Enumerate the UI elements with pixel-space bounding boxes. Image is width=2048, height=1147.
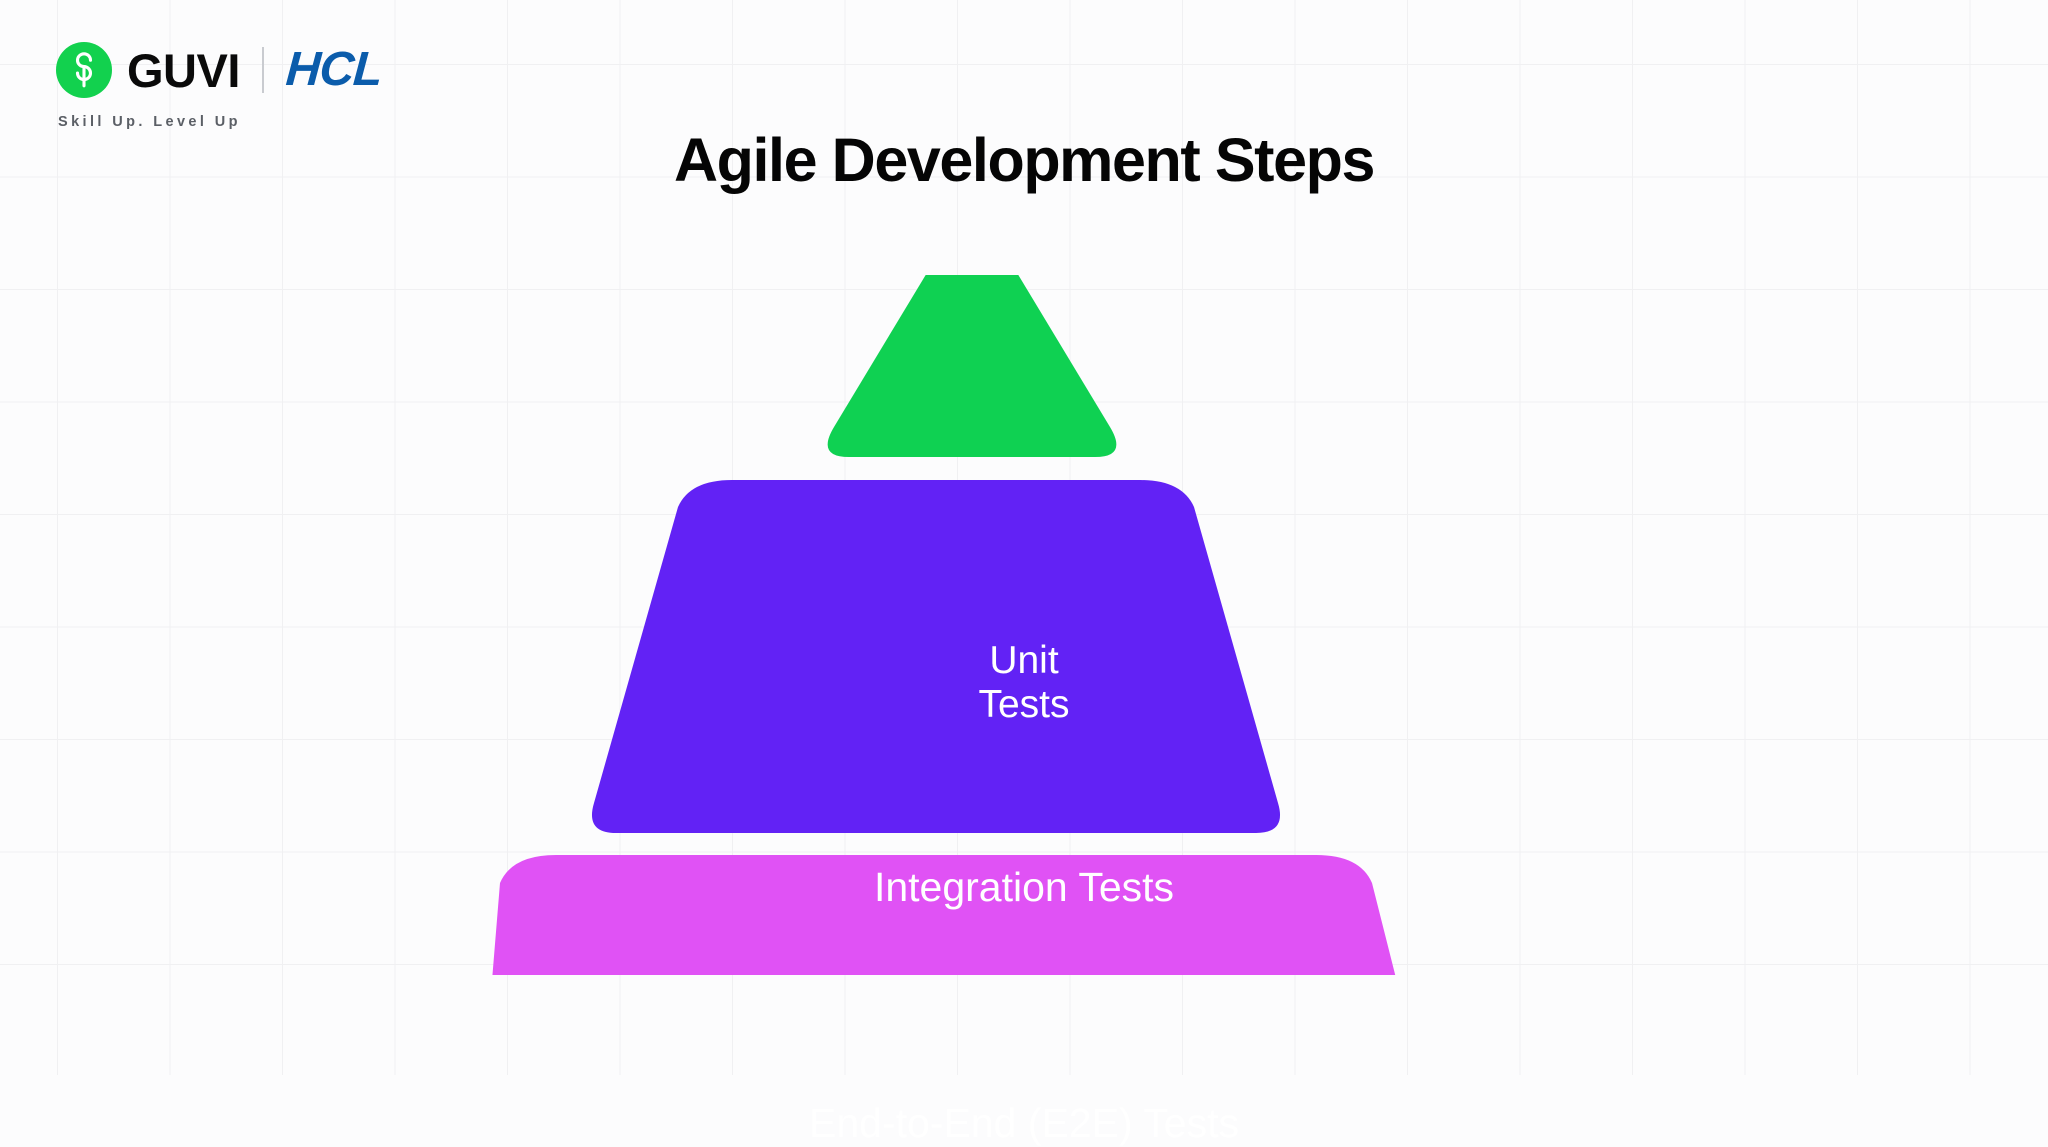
e2e-layer-shape[interactable]: [472, 855, 1453, 975]
test-pyramid-diagram: Unit Tests Integration Tests End-to-End …: [0, 275, 2048, 975]
guvi-logo-mark: [56, 42, 112, 98]
brand-logo-bar: GUVI HCL Skill Up. Level Up: [56, 42, 382, 130]
hcl-wordmark: HCL: [284, 46, 383, 94]
brand-row: GUVI HCL: [56, 42, 382, 98]
pyramid-layer-integration[interactable]: [592, 480, 1280, 833]
brand-tagline: Skill Up. Level Up: [58, 114, 382, 130]
brand-divider: [262, 47, 264, 93]
integration-layer-shape[interactable]: [592, 480, 1280, 833]
pyramid-svg: [0, 275, 2048, 975]
pyramid-layer-e2e[interactable]: [472, 855, 1453, 975]
page-title: Agile Development Steps: [0, 130, 2048, 191]
unit-layer-shape[interactable]: [828, 275, 1117, 457]
e2e-tests-label: End-to-End (E2E) Tests: [0, 1101, 2048, 1147]
guvi-g-icon: [67, 51, 101, 89]
pyramid-layer-unit[interactable]: [828, 275, 1117, 457]
guvi-wordmark: GUVI: [127, 47, 240, 94]
